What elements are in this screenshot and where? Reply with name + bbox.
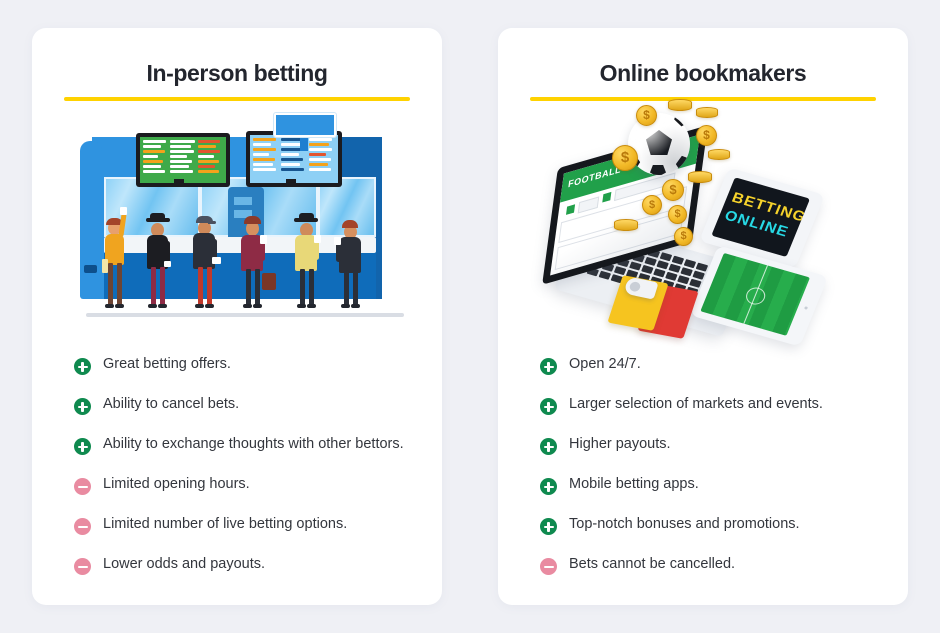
plus-icon [540, 478, 557, 495]
comparison-board: In-person betting [0, 0, 940, 633]
plus-icon [540, 438, 557, 455]
list-item: Top-notch bonuses and promotions. [540, 517, 908, 535]
person-1-raised-hand [100, 219, 130, 313]
shop-floor-line [86, 313, 404, 317]
list-item: Ability to exchange thoughts with other … [74, 437, 442, 455]
plus-icon [540, 398, 557, 415]
person-2-black-hat [142, 217, 174, 313]
screen-blue-stand [286, 179, 296, 186]
plus-icon [74, 398, 91, 415]
list-item-label: Great betting offers. [103, 357, 231, 373]
coin-icon [614, 219, 638, 231]
list-item: Great betting offers. [74, 357, 442, 375]
list-item: Larger selection of markets and events. [540, 397, 908, 415]
shop-signboard [274, 113, 336, 137]
card-in-person-betting: In-person betting [32, 28, 442, 605]
coin-icon [688, 171, 712, 183]
coin-icon [696, 107, 718, 118]
list-item: Lower odds and payouts. [74, 557, 442, 575]
bullet-list-right: Open 24/7. Larger selection of markets a… [498, 347, 908, 575]
ticket-slot-icon [84, 265, 97, 273]
plus-icon [540, 518, 557, 535]
list-item: Mobile betting apps. [540, 477, 908, 495]
list-item-label: Larger selection of markets and events. [569, 397, 823, 413]
coin-icon [708, 149, 730, 160]
signboard-pole [300, 137, 308, 151]
list-item-label: Lower odds and payouts. [103, 557, 265, 573]
list-item-label: Top-notch bonuses and promotions. [569, 517, 800, 533]
list-item-label: Bets cannot be cancelled. [569, 557, 735, 573]
page-title-left: In-person betting [32, 54, 442, 97]
coin-icon: $ [636, 105, 657, 126]
list-item-label: Mobile betting apps. [569, 477, 699, 493]
minus-icon [74, 518, 91, 535]
title-underline-right [530, 97, 876, 101]
coin-icon: $ [668, 205, 687, 224]
list-item: Ability to cancel bets. [74, 397, 442, 415]
list-item: Limited opening hours. [74, 477, 442, 495]
screen-green-stand [174, 179, 184, 186]
plus-icon [74, 358, 91, 375]
list-item-label: Higher payouts. [569, 437, 671, 453]
coin-icon: $ [612, 145, 638, 171]
betting-shop-scene [78, 115, 408, 335]
title-underline-left [64, 97, 410, 101]
coin-icon: $ [674, 227, 693, 246]
card-online-bookmakers: Online bookmakers FOOTBALL [498, 28, 908, 605]
list-item: Open 24/7. [540, 357, 908, 375]
person-5-yellow-coat [290, 215, 324, 313]
pitch-center-circle [744, 285, 769, 306]
person-3-cap [188, 213, 222, 313]
list-item: Bets cannot be cancelled. [540, 557, 908, 575]
illustration-in-person-betting [32, 107, 442, 343]
tablet-camera-icon [804, 306, 808, 310]
list-item-label: Open 24/7. [569, 357, 641, 373]
list-item: Limited number of live betting options. [74, 517, 442, 535]
list-item-label: Limited opening hours. [103, 477, 250, 493]
coin-icon: $ [662, 179, 684, 201]
person-4-briefcase [236, 215, 270, 313]
list-item-label: Ability to exchange thoughts with other … [103, 437, 404, 453]
shop-pillar [80, 141, 102, 299]
list-item-label: Ability to cancel bets. [103, 397, 239, 413]
coin-icon [668, 99, 692, 111]
online-betting-scene: FOOTBALL BETTING ONLINE [528, 107, 878, 343]
plus-icon [74, 438, 91, 455]
soccer-ball [628, 113, 690, 175]
teller-window-1 [234, 197, 252, 205]
minus-icon [74, 558, 91, 575]
minus-icon [540, 558, 557, 575]
illustration-online-bookmakers: FOOTBALL BETTING ONLINE [498, 107, 908, 343]
plus-icon [540, 358, 557, 375]
list-item-label: Limited number of live betting options. [103, 517, 347, 533]
list-item: Higher payouts. [540, 437, 908, 455]
page-title-right: Online bookmakers [498, 54, 908, 97]
person-6-dark-coat [334, 217, 368, 313]
bullet-list-left: Great betting offers. Ability to cancel … [32, 347, 442, 575]
minus-icon [74, 478, 91, 495]
coin-icon: $ [642, 195, 662, 215]
coin-icon: $ [696, 125, 717, 146]
